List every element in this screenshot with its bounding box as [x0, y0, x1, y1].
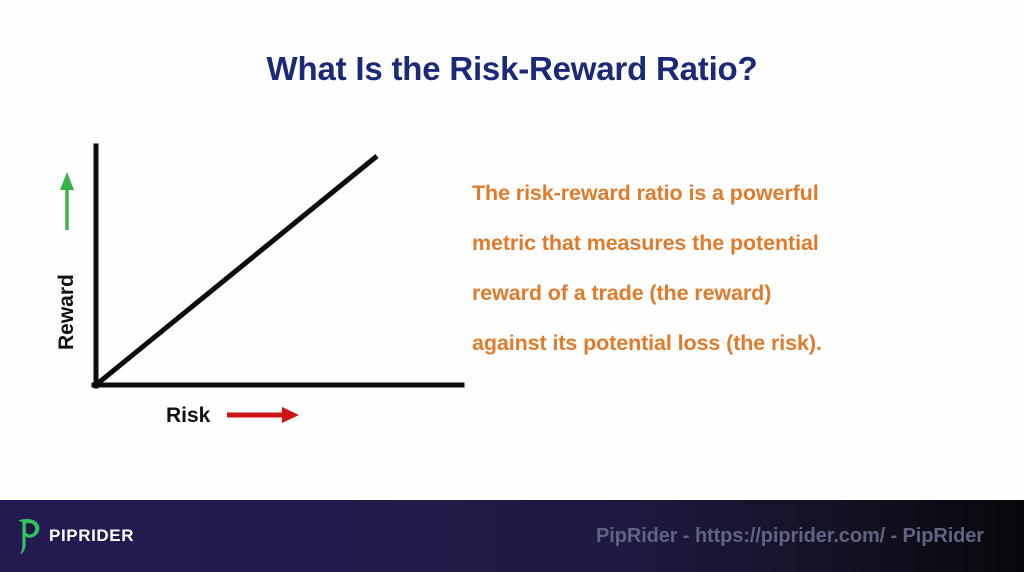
page-title: What Is the Risk-Reward Ratio? [0, 50, 1024, 88]
description-line: reward of a trade (the reward) [472, 268, 972, 318]
trend-line [97, 156, 377, 384]
risk-arrow-icon [227, 407, 299, 423]
piprider-logo-icon [16, 517, 42, 555]
footer-logo[interactable]: PIPRIDER [16, 500, 134, 572]
description-line: metric that measures the potential [472, 218, 972, 268]
description-line: The risk-reward ratio is a powerful [472, 168, 972, 218]
slide-canvas: What Is the Risk-Reward Ratio? Reward Ri… [0, 0, 1024, 572]
risk-reward-chart: Reward Risk [0, 120, 470, 450]
x-axis-label: Risk [166, 404, 211, 427]
footer-url-text[interactable]: PipRider - https://piprider.com/ - PipRi… [596, 500, 984, 572]
y-axis-label: Reward [55, 274, 78, 350]
reward-arrow-icon [60, 172, 74, 230]
risk-reward-chart-svg: Reward Risk [0, 120, 470, 450]
description-text: The risk-reward ratio is a powerful metr… [472, 168, 972, 368]
footer-brand-name: PIPRIDER [49, 526, 134, 546]
description-line: against its potential loss (the risk). [472, 318, 972, 368]
footer-bar: PIPRIDER PipRider - https://piprider.com… [0, 500, 1024, 572]
